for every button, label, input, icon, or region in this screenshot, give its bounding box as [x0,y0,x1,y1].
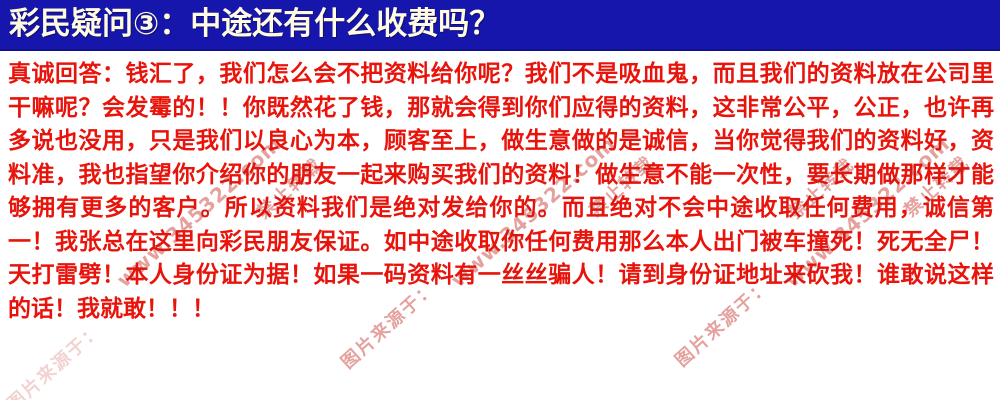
promo-poster: 彩民疑问③：中途还有什么收费吗？ 真诚回答：钱汇了，我们怎么会不把资料给你呢？我… [0,0,1000,400]
header-banner: 彩民疑问③：中途还有什么收费吗？ [0,0,1000,51]
body-text: 真诚回答：钱汇了，我们怎么会不把资料给你呢？我们不是吸血鬼，而且我们的资料放在公… [0,53,1000,400]
page-title: 彩民疑问③：中途还有什么收费吗？ [9,9,500,40]
body-paragraph: 真诚回答：钱汇了，我们怎么会不把资料给你呢？我们不是吸血鬼，而且我们的资料放在公… [8,58,994,326]
